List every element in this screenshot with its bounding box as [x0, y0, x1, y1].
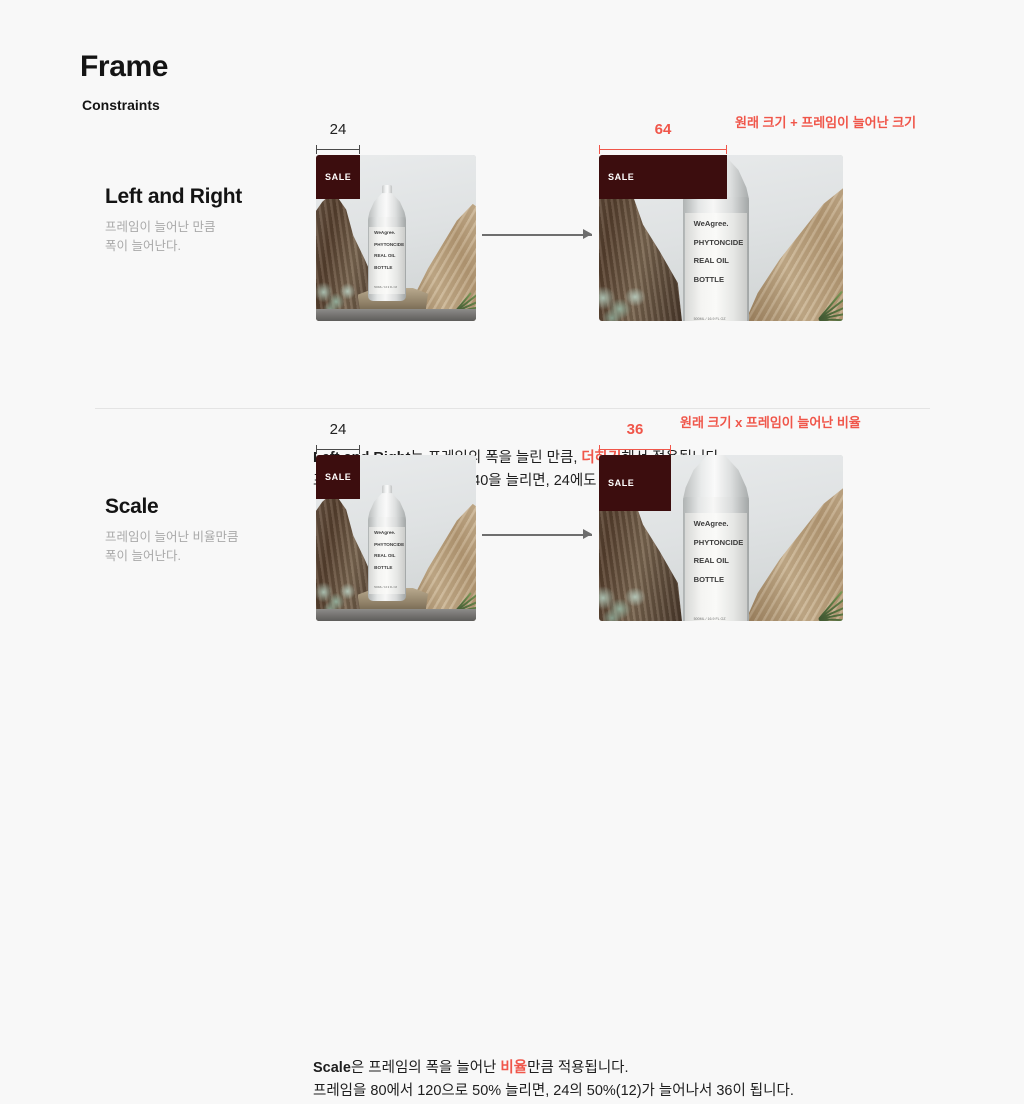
bottle-label: WeAgree. PHYTONCIDE REAL OIL BOTTLE 500M…	[685, 213, 747, 321]
bottle-brand: WeAgree.	[694, 520, 729, 528]
ruler-value: 24	[316, 122, 360, 137]
caption-line-1: Scale은 프레임의 폭을 늘어난 비율만큼 적용됩니다.	[313, 1057, 794, 1080]
bottle-line2: REAL OIL	[374, 554, 395, 559]
bottle-line2: REAL OIL	[694, 257, 729, 265]
ruler-cap-left	[599, 145, 600, 154]
section-description-line2: 폭이 늘어난다.	[105, 237, 242, 256]
transform-arrow	[482, 528, 592, 540]
ruler-cap-right	[359, 145, 360, 154]
bottle-line1: PHYTONCIDE	[374, 243, 404, 248]
pine-branch	[780, 555, 843, 621]
ruler-before-left-and-right: 24	[316, 122, 360, 154]
page-title: Frame	[80, 50, 168, 83]
shrub-foliage	[599, 278, 653, 321]
bottle-volume: 500ML / 16.9 FL OZ	[694, 618, 726, 621]
product-card-before[interactable]: WeAgree. PHYTONCIDE REAL OIL BOTTLE 500M…	[316, 155, 476, 321]
ruler-cap-right	[670, 445, 671, 454]
product-card-before[interactable]: WeAgree. PHYTONCIDE REAL OIL BOTTLE 500M…	[316, 455, 476, 621]
sale-badge-label: SALE	[608, 172, 634, 182]
section-description-line1: 프레임이 늘어난 만큼	[105, 218, 242, 237]
ground-surface	[316, 309, 476, 321]
sale-badge: SALE	[599, 455, 671, 511]
ruler-bar	[316, 449, 360, 450]
caption-scale: Scale은 프레임의 폭을 늘어난 비율만큼 적용됩니다. 프레임을 80에서…	[313, 1057, 794, 1104]
ground-surface	[316, 609, 476, 621]
caption-accent: 비율	[500, 1060, 527, 1076]
ruler-before-scale: 24	[316, 422, 360, 454]
caption-rest-b: 만큼 적용됩니다.	[527, 1060, 628, 1076]
product-bottle: WeAgree. PHYTONCIDE REAL OIL BOTTLE 500M…	[368, 485, 406, 601]
ruler-bar	[599, 449, 671, 450]
ruler-bar	[599, 149, 727, 150]
section-description-line1: 프레임이 늘어난 비율만큼	[105, 528, 238, 547]
bottle-shoulder	[368, 193, 406, 219]
section-description-line2: 폭이 늘어난다.	[105, 547, 238, 566]
sale-badge: SALE	[599, 155, 727, 199]
caption-rest-a: 은 프레임의 폭을 늘어난	[351, 1060, 501, 1076]
arrow-shaft	[482, 234, 592, 236]
bottle-label: WeAgree. PHYTONCIDE REAL OIL BOTTLE 500M…	[369, 527, 405, 594]
sale-badge-label: SALE	[325, 172, 351, 182]
shrub-foliage	[599, 578, 653, 621]
sale-badge: SALE	[316, 455, 360, 499]
section-divider	[95, 408, 930, 409]
caption-term: Scale	[313, 1060, 351, 1076]
section-description: 프레임이 늘어난 만큼 폭이 늘어난다.	[105, 218, 242, 257]
arrow-head-icon	[583, 529, 592, 539]
product-bottle: WeAgree. PHYTONCIDE REAL OIL BOTTLE 500M…	[683, 455, 749, 621]
ruler-after-left-and-right: 64	[599, 122, 727, 154]
section-title: Left and Right	[105, 185, 242, 209]
ruler-value: 36	[599, 422, 671, 437]
sale-badge: SALE	[316, 155, 360, 199]
ruler-cap-left	[316, 445, 317, 454]
ruler-cap-right	[359, 445, 360, 454]
product-card-after[interactable]: WeAgree. PHYTONCIDE REAL OIL BOTTLE 500M…	[599, 155, 843, 321]
bottle-line3: BOTTLE	[694, 276, 724, 284]
bottle-volume: 500ML / 16.9 FL OZ	[374, 287, 397, 290]
bottle-line1: PHYTONCIDE	[694, 539, 744, 547]
ruler-after-scale: 36	[599, 422, 671, 454]
bottle-volume: 500ML / 16.9 FL OZ	[694, 318, 726, 321]
bottle-line3: BOTTLE	[694, 576, 724, 584]
bottle-line3: BOTTLE	[374, 266, 392, 271]
bottle-volume: 500ML / 16.9 FL OZ	[374, 587, 397, 590]
bottle-line2: REAL OIL	[694, 557, 729, 565]
bottle-line1: PHYTONCIDE	[694, 239, 744, 247]
section-title: Scale	[105, 495, 238, 519]
ruler-bar	[316, 149, 360, 150]
bottle-brand: WeAgree.	[374, 531, 395, 536]
ruler-line	[599, 145, 727, 154]
bottle-line3: BOTTLE	[374, 566, 392, 571]
ruler-cap-left	[316, 145, 317, 154]
ruler-cap-right	[726, 145, 727, 154]
arrow-head-icon	[583, 229, 592, 239]
product-bottle: WeAgree. PHYTONCIDE REAL OIL BOTTLE 500M…	[368, 185, 406, 301]
bottle-shoulder	[368, 493, 406, 519]
product-card-after[interactable]: WeAgree. PHYTONCIDE REAL OIL BOTTLE 500M…	[599, 455, 843, 621]
sale-badge-label: SALE	[608, 478, 634, 488]
bottle-brand: WeAgree.	[374, 231, 395, 236]
ruler-line	[316, 445, 360, 454]
ruler-line	[316, 145, 360, 154]
bottle-shoulder	[683, 455, 749, 499]
section-label-left-and-right: Left and Right 프레임이 늘어난 만큼 폭이 늘어난다.	[105, 185, 242, 257]
page-header: Frame Constraints	[80, 50, 168, 113]
section-label-scale: Scale 프레임이 늘어난 비율만큼 폭이 늘어난다.	[105, 495, 238, 567]
arrow-shaft	[482, 534, 592, 536]
bottle-label: WeAgree. PHYTONCIDE REAL OIL BOTTLE 500M…	[369, 227, 405, 294]
ruler-value: 24	[316, 422, 360, 437]
bottle-brand: WeAgree.	[694, 220, 729, 228]
section-description: 프레임이 늘어난 비율만큼 폭이 늘어난다.	[105, 528, 238, 567]
ruler-line	[599, 445, 671, 454]
ruler-annotation-scale: 원래 크기 x 프레임이 늘어난 비율	[680, 412, 861, 431]
pine-branch	[780, 255, 843, 321]
bottle-label: WeAgree. PHYTONCIDE REAL OIL BOTTLE 500M…	[685, 513, 747, 621]
sale-badge-label: SALE	[325, 472, 351, 482]
transform-arrow	[482, 228, 592, 240]
ruler-annotation-left-and-right: 원래 크기 + 프레임이 늘어난 크기	[735, 112, 916, 131]
page-subtitle: Constraints	[82, 97, 168, 113]
ruler-value: 64	[599, 122, 727, 137]
bottle-line2: REAL OIL	[374, 254, 395, 259]
ruler-cap-left	[599, 445, 600, 454]
caption-line-2: 프레임을 80에서 120으로 50% 늘리면, 24의 50%(12)가 늘어…	[313, 1080, 794, 1103]
bottle-line1: PHYTONCIDE	[374, 543, 404, 548]
